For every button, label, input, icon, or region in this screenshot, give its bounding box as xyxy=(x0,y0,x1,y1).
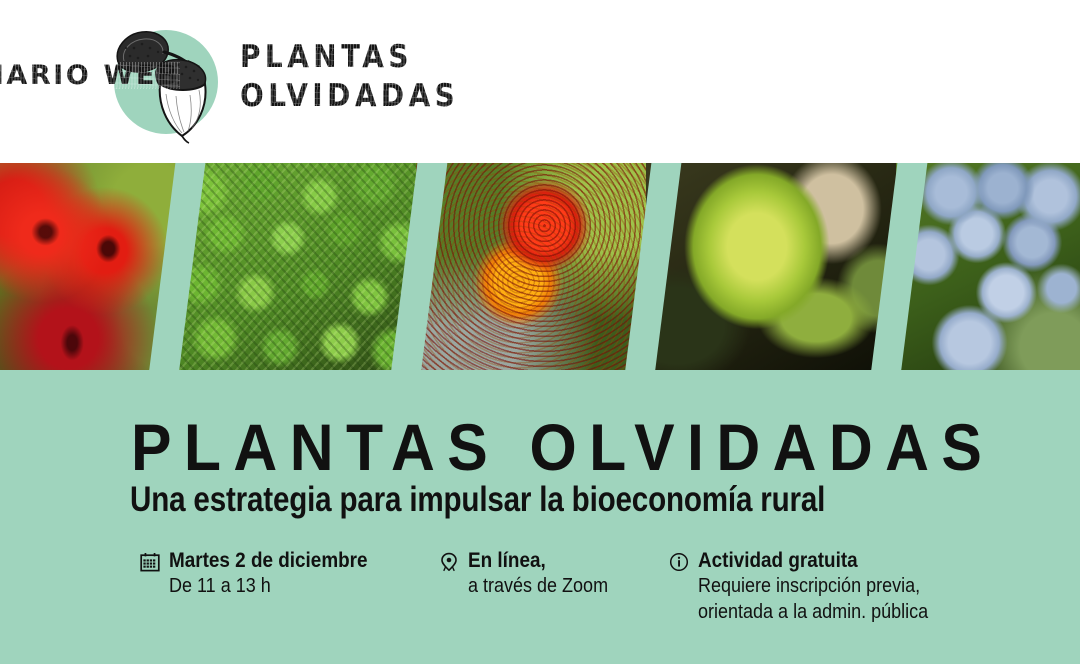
page-title: PLANTAS OLVIDADAS xyxy=(131,414,994,480)
poster-header: PLANTAS OLVIDADAS SEMINARIO WEB xyxy=(0,0,1080,163)
event-audience-note: orientada a la admin. pública xyxy=(698,599,928,625)
event-date-time: De 11 a 13 h xyxy=(169,573,368,599)
event-detail-location-text: En línea, a través de Zoom xyxy=(468,548,608,599)
photo-strip xyxy=(0,163,1080,372)
acorn-photo xyxy=(646,163,904,372)
sloe-berries-photo xyxy=(896,163,1080,372)
pine-cones-photo xyxy=(176,163,424,372)
event-date-heading: Martes 2 de diciembre xyxy=(169,548,368,573)
event-registration-note: Requiere inscripción previa, xyxy=(698,573,928,599)
logo-wordmark-line-1: PLANTAS xyxy=(240,42,413,73)
event-details: Martes 2 de diciembre De 11 a 13 h En lí… xyxy=(140,548,1020,648)
page-subtitle: Una estrategia para impulsar la bioecono… xyxy=(130,481,825,519)
event-detail-date: Martes 2 de diciembre De 11 a 13 h xyxy=(140,548,390,599)
event-price-heading: Actividad gratuita xyxy=(698,548,928,573)
calendar-icon xyxy=(140,552,160,572)
event-detail-registration-text: Actividad gratuita Requiere inscripción … xyxy=(698,548,928,625)
info-circle-icon xyxy=(669,552,689,572)
event-location-heading: En línea, xyxy=(468,548,608,573)
event-detail-date-text: Martes 2 de diciembre De 11 a 13 h xyxy=(169,548,368,599)
logo-wordmark: PLANTAS OLVIDADAS xyxy=(240,42,520,112)
event-location-platform: a través de Zoom xyxy=(468,573,608,599)
location-pin-icon xyxy=(439,552,459,572)
webinar-poster: PLANTAS OLVIDADAS SEMINARIO WEB PLANTAS … xyxy=(0,0,1080,664)
event-detail-location: En línea, a través de Zoom xyxy=(439,548,624,599)
arbutus-fruit-photo xyxy=(416,163,654,372)
event-detail-registration: Actividad gratuita Requiere inscripción … xyxy=(669,548,954,625)
seminar-kicker: SEMINARIO WEB xyxy=(0,62,180,89)
logo-wordmark-line-2: OLVIDADAS xyxy=(240,81,459,112)
